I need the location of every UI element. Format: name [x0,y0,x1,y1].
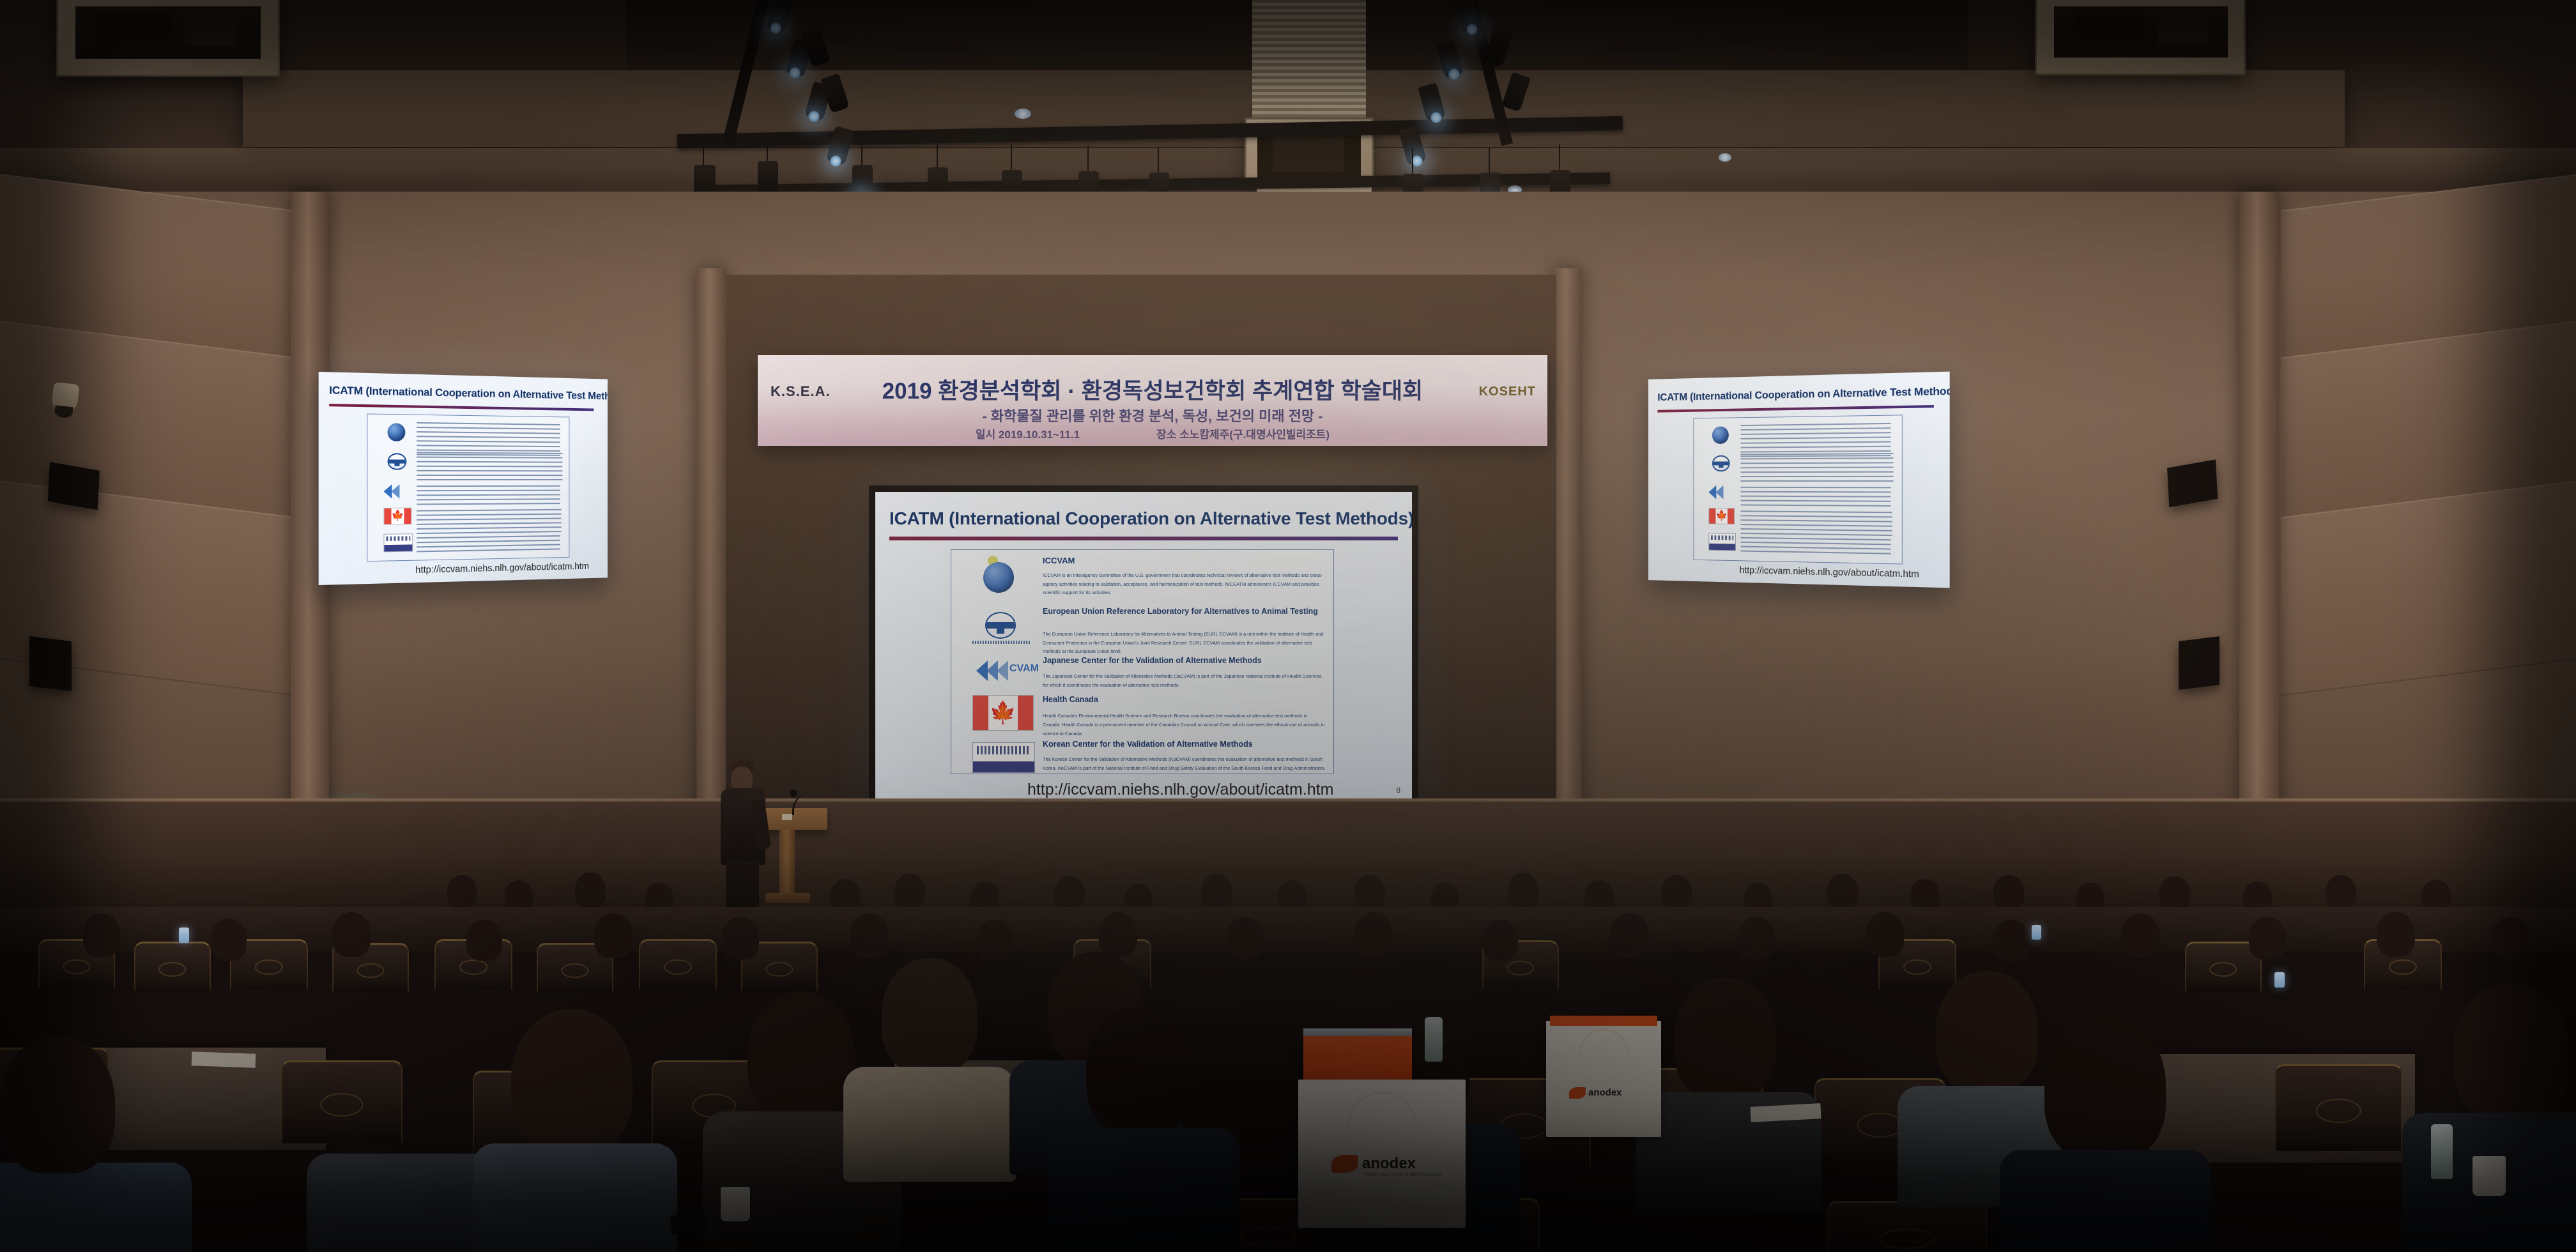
paper-cup [721,1187,750,1221]
audience-torso [473,1143,677,1252]
eurl-ecvam-icon [1712,455,1730,472]
slide-url: http://iccvam.niehs.nlh.gov/about/icatm.… [1740,565,1919,580]
audience-head [977,920,1013,961]
tote-handle [1578,1028,1629,1057]
truss-hanger [861,139,862,167]
wall-panel [2281,480,2576,696]
audience-head [2377,912,2415,957]
audience-head [894,874,925,910]
center-box-equipment [1273,132,1344,172]
audience-head [1866,912,1904,957]
paper-cup [2472,1156,2506,1196]
audience-head [1354,912,1393,957]
catwalk-grill [1252,0,1366,119]
water-bottle [1425,1017,1443,1062]
canada-flag-icon: 🍁 [383,508,411,525]
left-slide-content: ICATM (International Cooperation on Alte… [319,372,608,585]
slide-text-block [417,485,560,508]
water-bottle [2431,1124,2453,1179]
light-box-equipment [2074,15,2144,46]
section-body: Health Canada's Environmental Health Sci… [1043,712,1326,738]
canada-flag-icon: 🍁 [972,695,1034,731]
section-body: The European Union Reference Laboratory … [1043,630,1330,656]
kocvam-icon [972,742,1035,773]
audience-head [1099,912,1137,957]
globe-icon [983,562,1014,593]
audience-torso [843,1067,1016,1182]
audience-head [2044,1014,2166,1161]
slide-url: http://iccvam.niehs.nlh.gov/about/icatm.… [1027,781,1333,799]
slide-text-block [1740,510,1892,537]
audience-head [2159,876,2190,911]
audience-torso [0,1163,192,1252]
audience-head [1610,913,1648,958]
slide-text-block [417,452,562,482]
audience-head [1227,917,1264,959]
audience-head [722,917,759,959]
slide-title: ICATM (International Cooperation on Alte… [329,384,608,403]
section-heading: Korean Center for the Validation of Alte… [1043,740,1253,749]
truss-hanger [1489,147,1490,175]
audience-head [1738,917,1775,959]
microphone-icon [790,790,797,797]
audience-head [211,919,247,961]
tote-tagline: TOGETHER FOR A BETTER LIFE [1363,1173,1442,1177]
fish-logo-icon [1331,1155,1358,1173]
audience-head [332,912,371,957]
section-body: ICCVAM is an interagency committee of th… [1043,571,1326,597]
audience-head [1054,876,1085,911]
tote-bag: anodex [1546,1021,1661,1137]
wall-pillar-right [2239,192,2279,818]
chair [639,939,717,990]
banner-meta: 일시 2019.10.31~11.1 장소 소노캄제주(구.대명사인빌리조트) [758,425,1547,441]
center-projection-screen: ICATM (International Cooperation on Alte… [869,485,1418,813]
truss-hanger [937,142,938,170]
maple-leaf-icon: 🍁 [990,702,1016,724]
audience-head [2121,913,2159,958]
audience-head [1201,874,1232,910]
wall-pillar-left-inner [696,268,726,818]
slide-page-number: 8 [1396,786,1400,795]
right-slide-content: ICATM (International Cooperation on Alte… [1648,372,1950,588]
audience-head [1827,874,1858,910]
phone-screen [179,928,189,943]
truss-hanger [1559,144,1560,172]
section-heading: Japanese Center for the Validation of Al… [1043,656,1262,665]
wall-speaker [2179,636,2219,690]
audience-head [1354,875,1385,910]
truss-hanger [703,138,704,167]
paper-document [192,1051,256,1067]
slide-url: http://iccvam.niehs.nlh.gov/about/icatm.… [415,561,589,576]
ceiling-downlight [1719,153,1731,162]
audience-head [2326,875,2356,910]
conference-hall-photo: ICATM (International Cooperation on Alte… [0,0,2576,1252]
eurl-ecvam-caption [972,641,1031,644]
jacvam-icon [1708,485,1735,500]
audience-head [83,913,120,957]
slide-title-rule [889,537,1398,540]
jacvam-icon: CVAM [976,660,1035,681]
fish-logo-icon [1569,1087,1586,1099]
banner-subtitle: - 화학물질 관리를 위한 환경 분석, 독성, 보건의 미래 전망 - [758,405,1547,425]
eurl-ecvam-icon [387,453,406,470]
light-box-equipment [96,14,172,47]
section-heading: ICCVAM [1043,556,1075,565]
audience-head [2249,917,2286,959]
banner-date: 일시 2019.10.31~11.1 [976,425,1080,441]
canada-flag-icon: 🍁 [1708,508,1735,524]
slide-text-block [1740,453,1893,483]
truss-hanger [1087,146,1089,174]
eurl-ecvam-icon [985,612,1016,639]
tote-handle [1347,1091,1417,1128]
globe-icon [1712,426,1729,444]
light-box-equipment [185,17,236,46]
audience-head [594,913,632,958]
phone-screen [2032,925,2041,940]
conference-banner: K.S.E.A. KOSEHT 2019 환경분석학회 · 환경독성보건학회 추… [758,355,1547,446]
slide-title-rule [1657,405,1934,413]
center-slide-content: ICATM (International Cooperation on Alte… [875,492,1412,800]
audience-torso [2000,1150,2211,1252]
right-projection-screen: ICATM (International Cooperation on Alte… [1648,372,1950,588]
audience-head [850,913,888,958]
wall-speaker [2167,459,2218,507]
audience-head [511,1009,632,1153]
truss-hanger [1412,148,1413,176]
audience-head [1086,1007,1195,1134]
tote-bag: anodex TOGETHER FOR A BETTER LIFE [1298,1080,1466,1228]
slide-text-block [417,509,561,535]
banner-venue: 장소 소노캄제주(구.대명사인빌리조트) [1156,425,1330,441]
chair [1827,1201,1987,1252]
truss-hanger [1011,144,1012,172]
audience-head [2453,984,2568,1121]
audience-head [1936,971,2038,1092]
audience-head [1674,977,1776,1099]
audience-head [1993,875,2024,910]
tote-brand: anodex [1588,1087,1622,1098]
audience-head [747,991,855,1118]
jacvam-wordmark: CVAM [1009,663,1039,675]
slide-title: ICATM (International Cooperation on Alte… [1657,385,1949,404]
podium-control-panel [782,814,792,820]
section-body: The Japanese Center for the Validation o… [1043,672,1325,689]
audience-head [0,1036,115,1173]
audience-head [1661,875,1692,910]
audience-head [575,873,606,908]
light-box-equipment [2158,17,2208,45]
chair [134,942,211,991]
slide-title: ICATM (International Cooperation on Alte… [889,508,1412,529]
truss-hanger [1158,147,1159,175]
audience-head [466,920,502,961]
audience-head [1993,920,2029,961]
audience-head [1508,873,1538,908]
tote-brand: anodex [1362,1155,1416,1173]
audience-head [2492,917,2529,959]
kocvam-band [973,761,1034,772]
banner-main-title: 2019 환경분석학회 · 환경독성보건학회 추계연합 학술대회 [758,373,1547,406]
truss-hanger [767,138,768,164]
left-projection-screen: ICATM (International Cooperation on Alte… [319,372,608,585]
kocvam-korean-text [977,746,1031,755]
section-heading: European Union Reference Laboratory for … [1043,606,1324,618]
tote-orange-liner [1550,1016,1657,1026]
phone-in-hand [670,1212,708,1235]
audience-torso [1048,1128,1239,1252]
kocvam-icon [383,533,413,552]
globe-icon [387,423,405,441]
chair [2274,1064,2402,1151]
audience-head [447,875,477,910]
slide-text-block [1740,487,1890,509]
audience-head [1482,920,1518,961]
wall-pillar-right-inner [1552,268,1582,818]
slide-title-rule [329,404,594,411]
jacvam-icon [383,484,411,499]
wall-speaker [29,636,72,691]
slide-text-block [1740,537,1890,558]
slide-text-block [417,535,560,556]
ceiling-downlight [1015,109,1031,119]
section-body: The Korean Center for the Validation of … [1043,755,1328,772]
chair [281,1060,402,1143]
section-heading: Health Canada [1043,695,1098,704]
audience-head [882,958,977,1073]
phone-screen [2274,972,2285,988]
kocvam-icon [1708,533,1736,551]
